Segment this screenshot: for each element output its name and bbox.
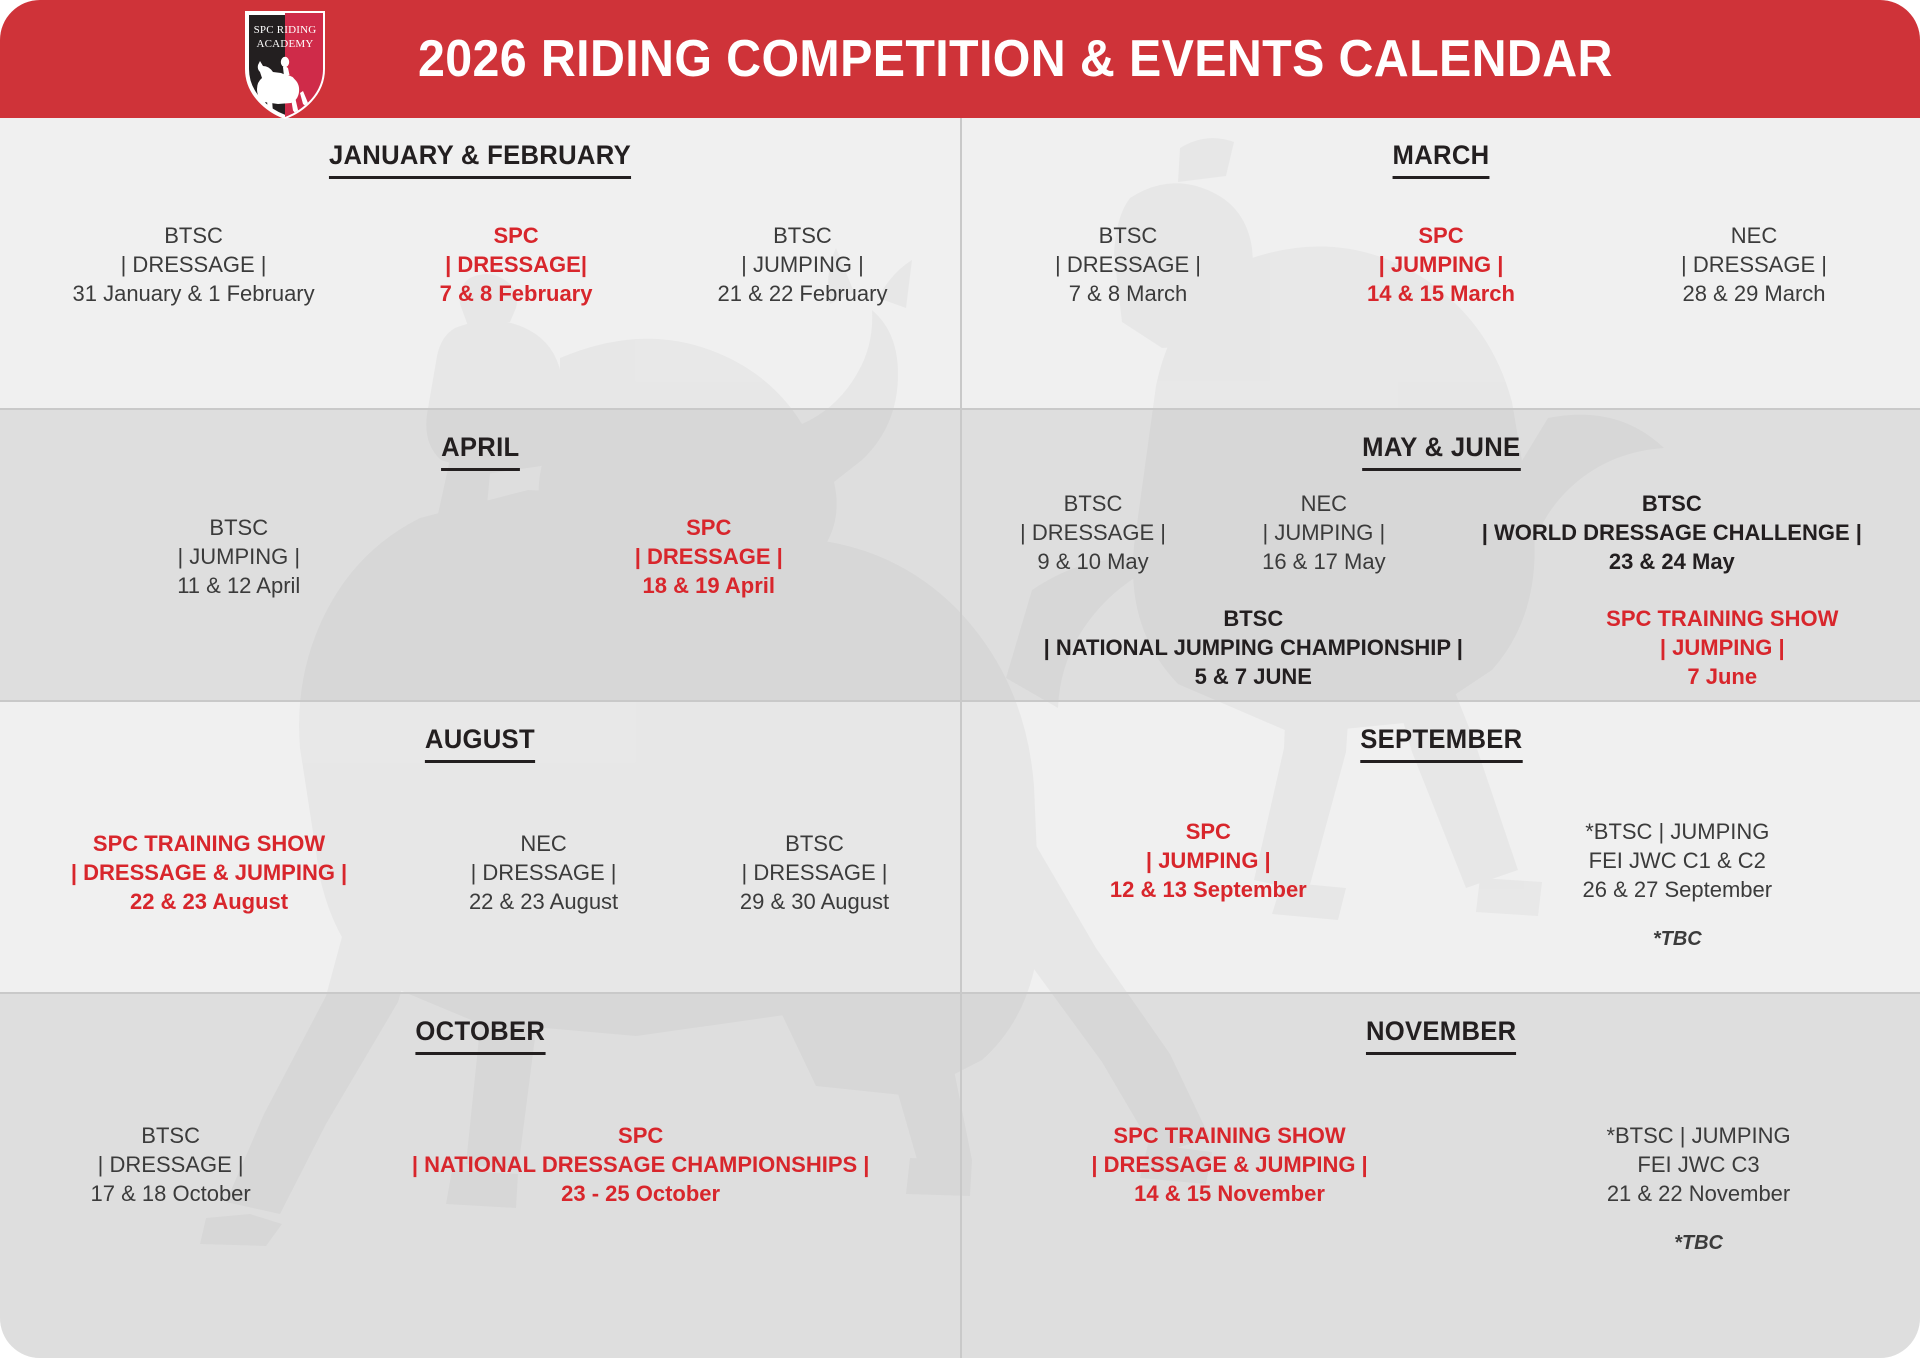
event-tbc-note: *TBC [1606,1230,1790,1256]
month-title-april: APRIL [441,432,519,471]
event-discipline: FEI JWC C3 [1606,1150,1790,1179]
event-discipline: | JUMPING | [717,250,887,279]
events-list-august: SPC TRAINING SHOW | DRESSAGE & JUMPING |… [10,769,950,978]
event-dates: 5 & 7 JUNE [1044,662,1463,691]
events-list-jan-feb: BTSC | DRESSAGE | 31 January & 1 Februar… [10,185,950,394]
event-item: BTSC | JUMPING | 11 & 12 April [169,513,308,600]
logo-line-2: ACADEMY [256,38,313,50]
event-dates: 22 & 23 August [469,887,618,916]
event-org: NEC [1681,221,1827,250]
event-item: SPC | JUMPING | 14 & 15 March [1359,221,1523,308]
event-item: *BTSC | JUMPING FEI JWC C1 & C2 26 & 27 … [1575,817,1781,952]
event-dates: 16 & 17 May [1262,547,1386,576]
event-item: BTSC | NATIONAL JUMPING CHAMPIONSHIP | 5… [1036,604,1471,691]
event-org: SPC [440,221,593,250]
event-discipline: | WORLD DRESSAGE CHALLENGE | [1482,518,1862,547]
event-item: NEC | JUMPING | 16 & 17 May [1254,489,1394,576]
calendar-rows: JANUARY & FEBRUARY BTSC | DRESSAGE | 31 … [0,118,1920,1358]
calendar-row-4: OCTOBER BTSC | DRESSAGE | 17 & 18 Octobe… [0,994,1920,1358]
month-title-september: SEPTEMBER [1360,724,1522,763]
event-discipline: | DRESSAGE | [73,250,315,279]
event-dates: 12 & 13 September [1110,875,1307,904]
event-item: SPC TRAINING SHOW | JUMPING | 7 June [1598,604,1846,691]
event-item: BTSC | JUMPING | 21 & 22 February [709,221,895,308]
event-org: SPC [635,513,783,542]
event-item: NEC | DRESSAGE | 28 & 29 March [1673,221,1835,308]
calendar-card: SPC RIDING ACADEMY 2026 RIDING COMPETITI… [0,0,1920,1358]
event-org: BTSC [717,221,887,250]
month-title-november: NOVEMBER [1366,1016,1517,1055]
event-item: SPC | DRESSAGE | 18 & 19 April [627,513,791,600]
event-discipline: | DRESSAGE| [440,250,593,279]
event-org: SPC [412,1121,870,1150]
events-list-october: BTSC | DRESSAGE | 17 & 18 October SPC | … [10,1061,950,1344]
event-discipline: | DRESSAGE | [469,858,618,887]
event-dates: 21 & 22 February [717,279,887,308]
event-org: SPC [1110,817,1307,846]
calendar-row-2: APRIL BTSC | JUMPING | 11 & 12 April SPC… [0,410,1920,702]
event-item: SPC | DRESSAGE| 7 & 8 February [432,221,601,308]
month-cell-may-june: MAY & JUNE BTSC | DRESSAGE | 9 & 10 May … [962,410,1920,700]
spc-riding-academy-logo: SPC RIDING ACADEMY [243,9,327,121]
event-item: SPC TRAINING SHOW | DRESSAGE & JUMPING |… [1083,1121,1375,1208]
events-list-march: BTSC | DRESSAGE | 7 & 8 March SPC | JUMP… [972,185,1910,394]
event-org: BTSC [1044,604,1463,633]
month-cell-jan-feb: JANUARY & FEBRUARY BTSC | DRESSAGE | 31 … [0,118,962,408]
month-cell-august: AUGUST SPC TRAINING SHOW | DRESSAGE & JU… [0,702,962,992]
events-list-may-june: BTSC | DRESSAGE | 9 & 10 May NEC | JUMPI… [972,477,1910,691]
event-org: *BTSC | JUMPING [1583,817,1773,846]
page-header: SPC RIDING ACADEMY 2026 RIDING COMPETITI… [0,0,1920,118]
event-dates: 7 June [1606,662,1838,691]
event-org: SPC TRAINING SHOW [1606,604,1838,633]
calendar-row-1: JANUARY & FEBRUARY BTSC | DRESSAGE | 31 … [0,118,1920,410]
event-discipline: | DRESSAGE & JUMPING | [1091,1150,1367,1179]
event-item: BTSC | WORLD DRESSAGE CHALLENGE | 23 & 2… [1474,489,1870,576]
event-discipline: | NATIONAL DRESSAGE CHAMPIONSHIPS | [412,1150,870,1179]
events-list-november: SPC TRAINING SHOW | DRESSAGE & JUMPING |… [972,1061,1910,1344]
calendar-page: SPC RIDING ACADEMY 2026 RIDING COMPETITI… [0,0,1920,1358]
event-dates: 23 - 25 October [412,1179,870,1208]
event-discipline: | NATIONAL JUMPING CHAMPIONSHIP | [1044,633,1463,662]
event-dates: 29 & 30 August [740,887,889,916]
logo-line-1: SPC RIDING [253,24,316,36]
events-list-september: SPC | JUMPING | 12 & 13 September *BTSC … [972,769,1910,978]
event-item: SPC | JUMPING | 12 & 13 September [1102,817,1315,904]
event-discipline: | JUMPING | [1110,846,1307,875]
event-discipline: | DRESSAGE | [1055,250,1201,279]
event-item: NEC | DRESSAGE | 22 & 23 August [461,829,626,916]
event-dates: 28 & 29 March [1681,279,1827,308]
event-dates: 14 & 15 November [1091,1179,1367,1208]
month-cell-october: OCTOBER BTSC | DRESSAGE | 17 & 18 Octobe… [0,994,962,1358]
month-title-jan-feb: JANUARY & FEBRUARY [329,140,631,179]
event-item: BTSC | DRESSAGE | 29 & 30 August [732,829,897,916]
event-org: BTSC [1020,489,1166,518]
event-item: BTSC | DRESSAGE | 17 & 18 October [83,1121,259,1208]
event-discipline: | DRESSAGE | [635,542,783,571]
event-org: BTSC [740,829,889,858]
event-item: BTSC | DRESSAGE | 9 & 10 May [1012,489,1174,576]
event-discipline: | DRESSAGE & JUMPING | [71,858,347,887]
event-org: NEC [1262,489,1386,518]
event-dates: 17 & 18 October [91,1179,251,1208]
month-title-march: MARCH [1393,140,1490,179]
event-item: SPC | NATIONAL DRESSAGE CHAMPIONSHIPS | … [404,1121,878,1208]
event-dates: 7 & 8 February [440,279,593,308]
event-dates: 31 January & 1 February [73,279,315,308]
event-discipline: | DRESSAGE | [740,858,889,887]
event-dates: 22 & 23 August [71,887,347,916]
event-org: BTSC [177,513,300,542]
month-title-october: OCTOBER [415,1016,545,1055]
event-dates: 7 & 8 March [1055,279,1201,308]
event-item: BTSC | DRESSAGE | 31 January & 1 Februar… [65,221,323,308]
month-cell-april: APRIL BTSC | JUMPING | 11 & 12 April SPC… [0,410,962,700]
event-discipline: | JUMPING | [1367,250,1515,279]
event-org: BTSC [1482,489,1862,518]
event-discipline: | JUMPING | [1262,518,1386,547]
month-cell-march: MARCH BTSC | DRESSAGE | 7 & 8 March SPC … [962,118,1920,408]
calendar-grid: JANUARY & FEBRUARY BTSC | DRESSAGE | 31 … [0,118,1920,1358]
month-cell-september: SEPTEMBER SPC | JUMPING | 12 & 13 Septem… [962,702,1920,992]
event-org: BTSC [1055,221,1201,250]
event-tbc-note: *TBC [1583,926,1773,952]
event-org: BTSC [73,221,315,250]
events-subrow-may: BTSC | DRESSAGE | 9 & 10 May NEC | JUMPI… [972,477,1910,576]
events-list-april: BTSC | JUMPING | 11 & 12 April SPC | DRE… [10,477,950,686]
calendar-row-3: AUGUST SPC TRAINING SHOW | DRESSAGE & JU… [0,702,1920,994]
event-discipline: | JUMPING | [1606,633,1838,662]
event-item: SPC TRAINING SHOW | DRESSAGE & JUMPING |… [63,829,355,916]
event-dates: 14 & 15 March [1367,279,1515,308]
event-dates: 21 & 22 November [1606,1179,1790,1208]
month-title-august: AUGUST [425,724,535,763]
event-org: SPC TRAINING SHOW [1091,1121,1367,1150]
event-discipline: | DRESSAGE | [1681,250,1827,279]
event-dates: 9 & 10 May [1020,547,1166,576]
page-title: 2026 RIDING COMPETITION & EVENTS CALENDA… [418,29,1613,89]
event-org: BTSC [91,1121,251,1150]
event-discipline: | JUMPING | [177,542,300,571]
event-item: BTSC | DRESSAGE | 7 & 8 March [1047,221,1209,308]
event-item: *BTSC | JUMPING FEI JWC C3 21 & 22 Novem… [1598,1121,1798,1256]
event-discipline: | DRESSAGE | [1020,518,1166,547]
month-cell-november: NOVEMBER SPC TRAINING SHOW | DRESSAGE & … [962,994,1920,1358]
event-org: NEC [469,829,618,858]
event-discipline: FEI JWC C1 & C2 [1583,846,1773,875]
events-subrow-june: BTSC | NATIONAL JUMPING CHAMPIONSHIP | 5… [972,580,1910,691]
event-dates: 11 & 12 April [177,571,300,600]
event-org: SPC TRAINING SHOW [71,829,347,858]
event-dates: 18 & 19 April [635,571,783,600]
event-dates: 23 & 24 May [1482,547,1862,576]
event-dates: 26 & 27 September [1583,875,1773,904]
month-title-may-june: MAY & JUNE [1362,432,1520,471]
event-org: *BTSC | JUMPING [1606,1121,1790,1150]
event-discipline: | DRESSAGE | [91,1150,251,1179]
event-org: SPC [1367,221,1515,250]
